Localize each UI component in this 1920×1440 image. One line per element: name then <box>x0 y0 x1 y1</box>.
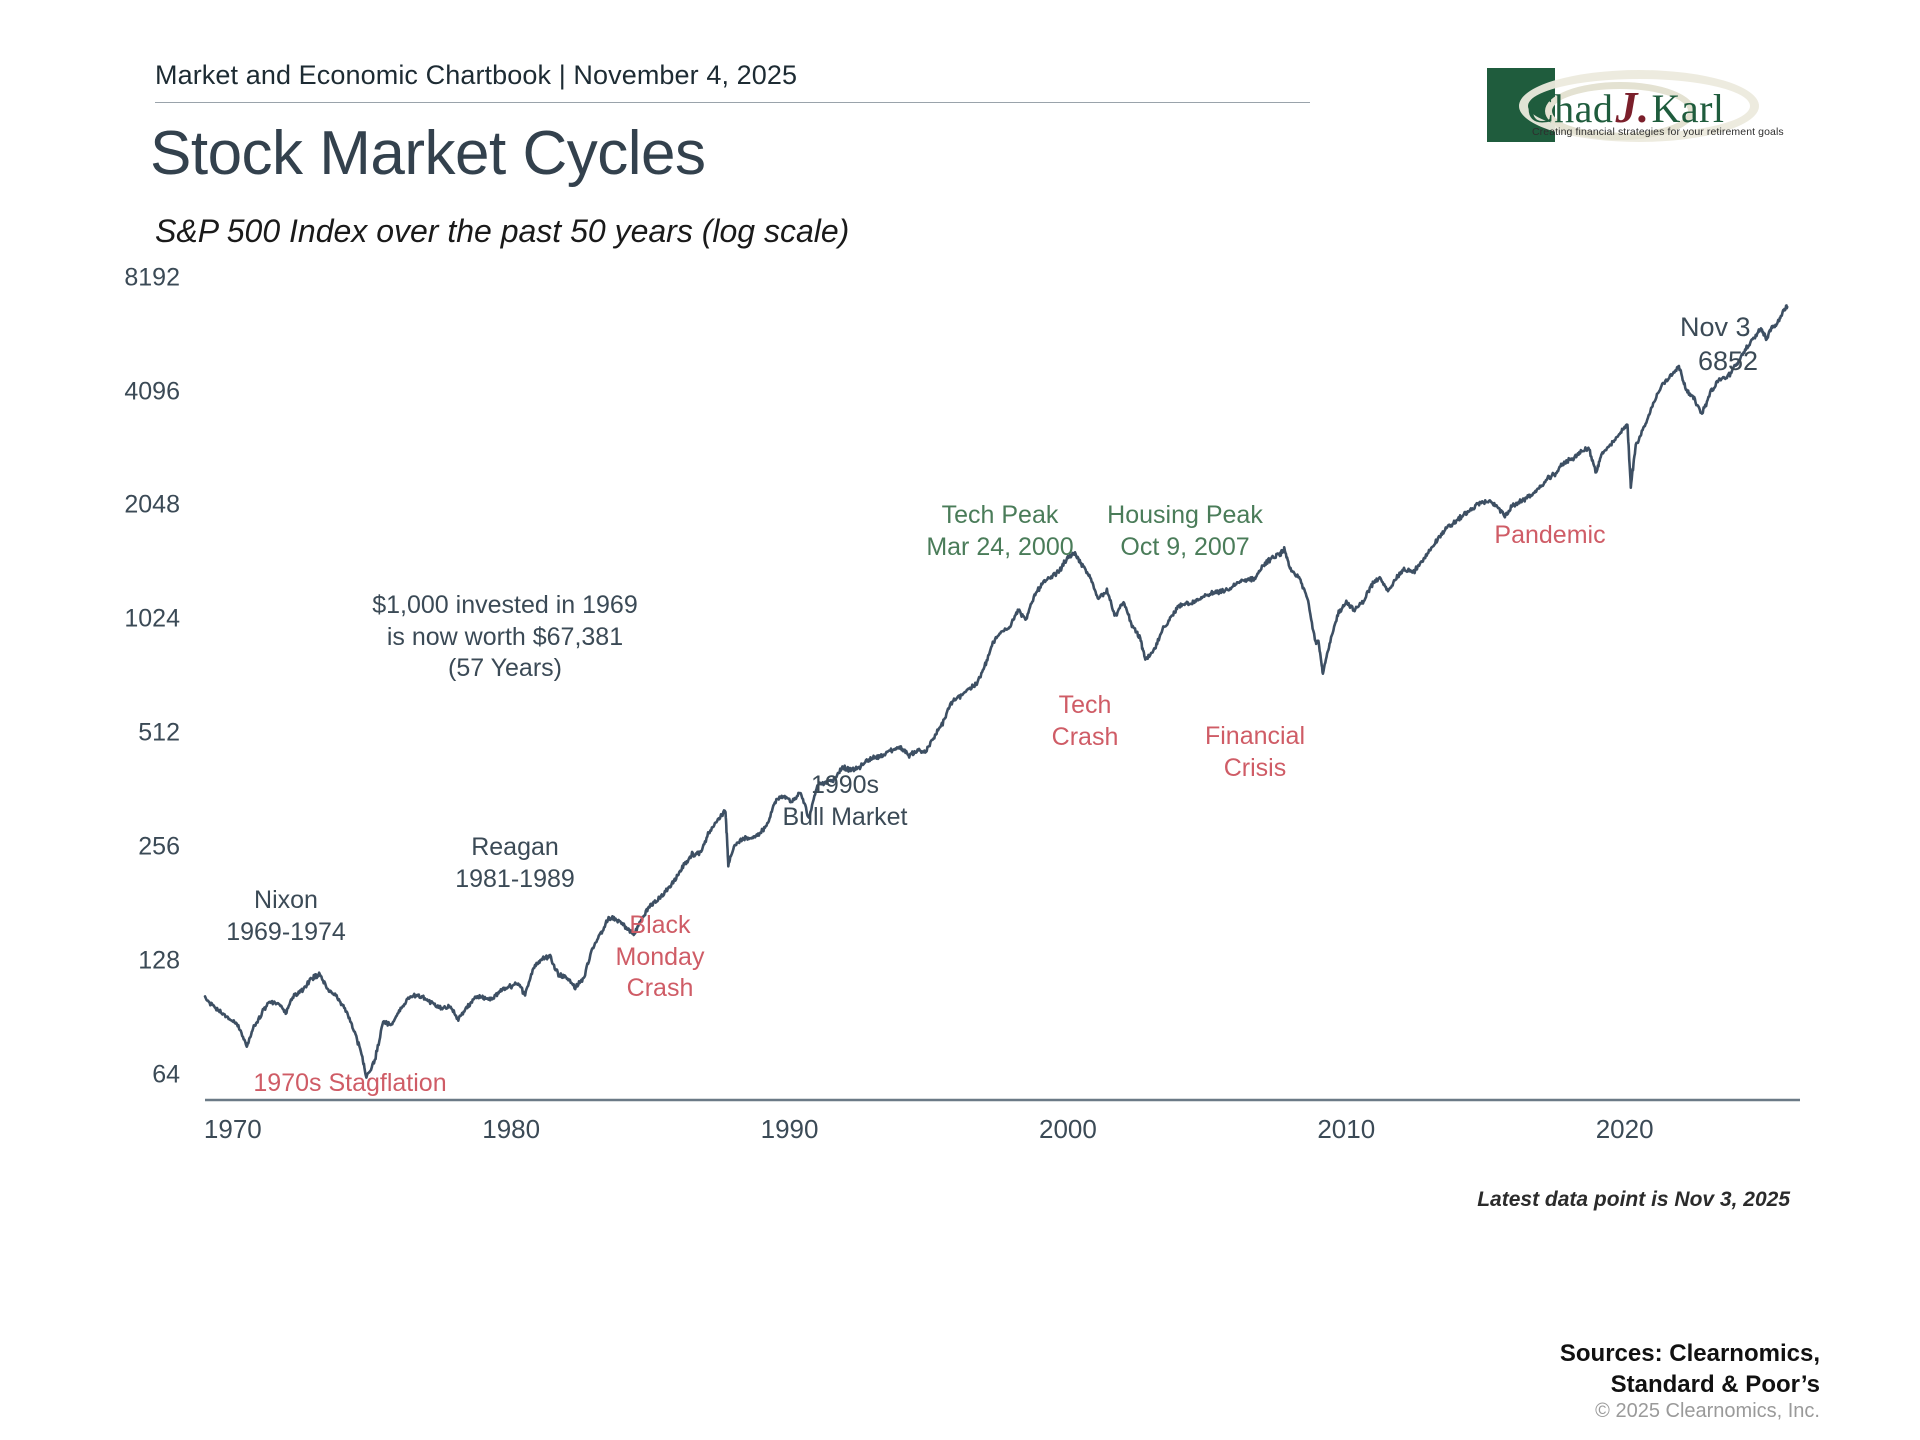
x-axis-tick-1990: 1990 <box>761 1114 819 1145</box>
chart-page: Market and Economic Chartbook | November… <box>0 0 1920 1440</box>
annotation-reagan: Reagan 1981-1989 <box>420 832 610 895</box>
y-axis-tick-256: 256 <box>60 833 180 862</box>
annotation-pandemic: Pandemic <box>1450 520 1650 552</box>
y-axis-tick-1024: 1024 <box>60 605 180 634</box>
y-axis-tick-64: 64 <box>60 1061 180 1090</box>
annotation-endpoint: Nov 3 6852 <box>1680 310 1840 378</box>
y-axis-tick-4096: 4096 <box>60 377 180 406</box>
annotation-nixon: Nixon 1969-1974 <box>196 885 376 948</box>
sp500-line-chart <box>0 0 1920 1440</box>
annotation-invested-1969: $1,000 invested in 1969 is now worth $67… <box>310 590 700 685</box>
annotation-bull-market: 1990s Bull Market <box>730 770 960 833</box>
sources-note: Sources: Clearnomics, Standard & Poor’s <box>1560 1338 1820 1400</box>
annotation-tech-crash: Tech Crash <box>1010 690 1160 753</box>
annotation-housing-peak: Housing Peak Oct 9, 2007 <box>1040 500 1330 563</box>
y-axis-tick-512: 512 <box>60 719 180 748</box>
y-axis-tick-128: 128 <box>60 947 180 976</box>
x-axis-tick-2020: 2020 <box>1596 1114 1654 1145</box>
x-axis-tick-2000: 2000 <box>1039 1114 1097 1145</box>
chart-container: 641282565121024204840968192 197019801990… <box>0 0 1920 1440</box>
x-axis-tick-1970: 1970 <box>204 1114 262 1145</box>
y-axis-tick-2048: 2048 <box>60 491 180 520</box>
y-axis-tick-8192: 8192 <box>60 263 180 292</box>
x-axis-tick-2010: 2010 <box>1317 1114 1375 1145</box>
annotation-stagflation: 1970s Stagflation <box>200 1068 500 1100</box>
annotation-financial-crisis: Financial Crisis <box>1150 721 1360 784</box>
annotation-black-monday: Black Monday Crash <box>580 910 740 1005</box>
latest-data-point-note: Latest data point is Nov 3, 2025 <box>1477 1188 1790 1212</box>
sp500-series-line <box>205 306 1787 1078</box>
x-axis-tick-1980: 1980 <box>482 1114 540 1145</box>
copyright-note: © 2025 Clearnomics, Inc. <box>1595 1400 1820 1423</box>
